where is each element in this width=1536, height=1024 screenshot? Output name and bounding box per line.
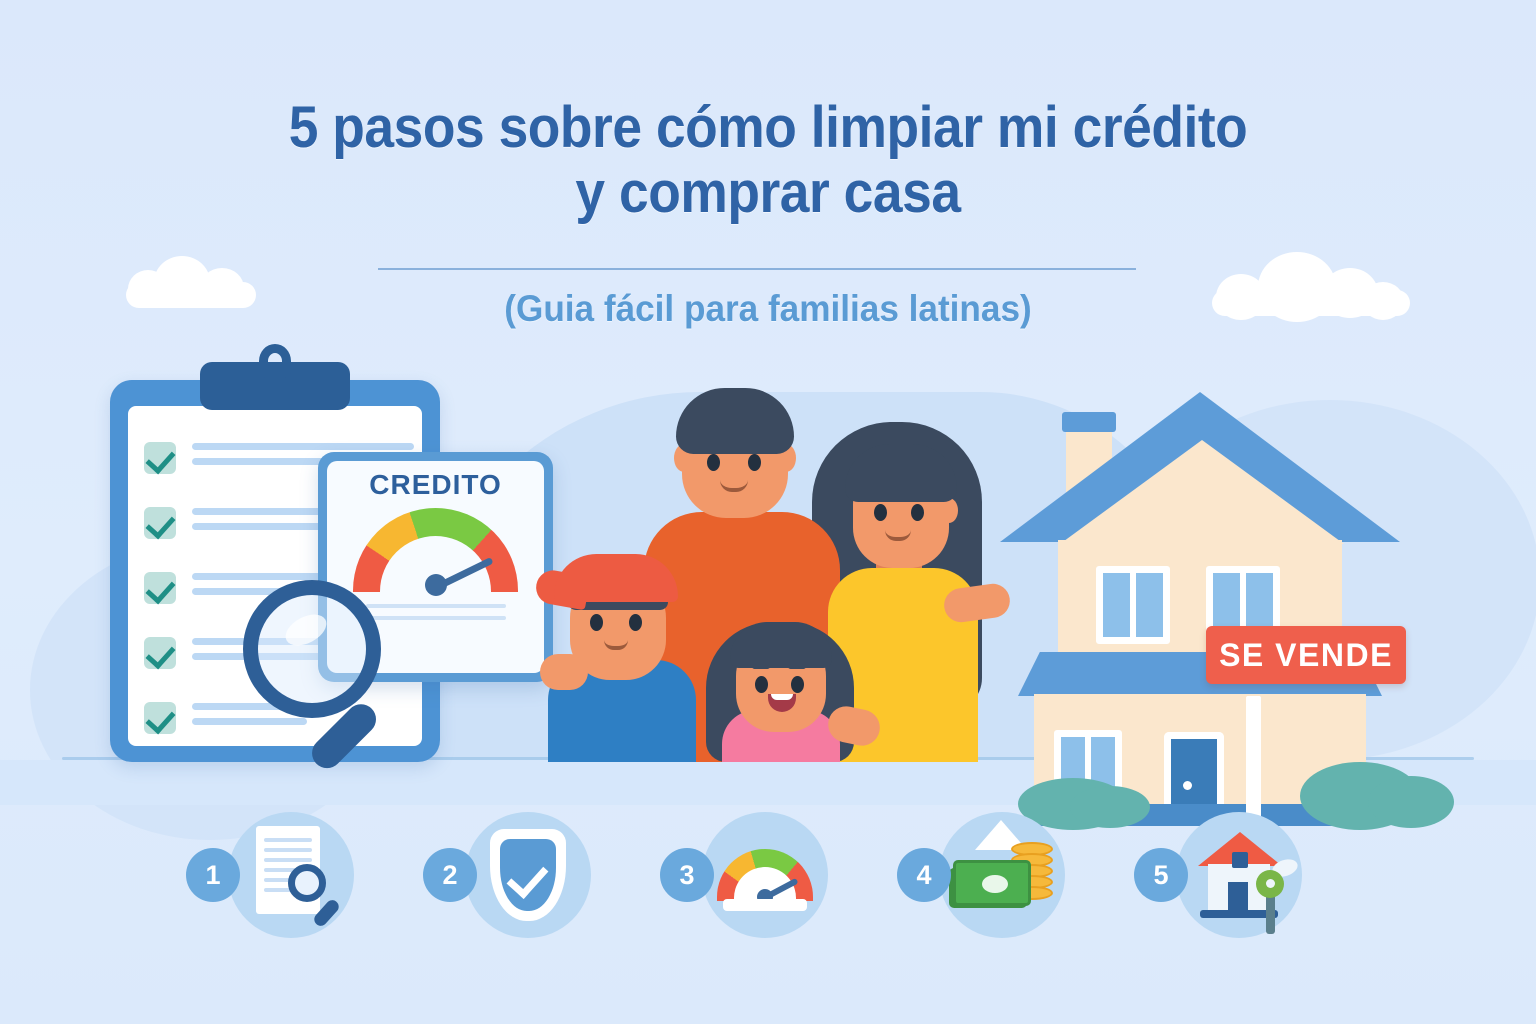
step-item-2[interactable]: 2 (423, 812, 641, 938)
title-divider (378, 268, 1136, 270)
for-sale-sign: SE VENDE (1206, 626, 1406, 684)
step-item-1[interactable]: 1 (186, 812, 404, 938)
step-icon-4 (939, 812, 1065, 938)
page-title: 5 pasos sobre cómo limpiar mi crédito y … (61, 96, 1474, 226)
step-badge-5: 5 (1134, 848, 1188, 902)
step-icon-2 (465, 812, 591, 938)
check-icon (144, 507, 176, 539)
boy-cap (554, 554, 678, 602)
step-icon-5 (1176, 812, 1302, 938)
check-icon (144, 702, 176, 734)
house-key-icon (1176, 812, 1302, 938)
step-item-4[interactable]: 4 (897, 812, 1115, 938)
father-hair (676, 388, 794, 454)
clipboard-ring (259, 344, 291, 378)
credit-gauge-icon (717, 849, 813, 901)
family-illustration (540, 372, 1010, 762)
bush-right-2 (1368, 776, 1454, 828)
check-icon (144, 572, 176, 604)
step-badge-3: 3 (660, 848, 714, 902)
house-illustration: SE VENDE (1000, 380, 1400, 762)
father-hand (540, 654, 588, 690)
key-icon (1256, 870, 1284, 898)
infographic-canvas: 5 pasos sobre cómo limpiar mi crédito y … (0, 0, 1536, 1024)
step-badge-4: 4 (897, 848, 951, 902)
step-icon-1 (228, 812, 354, 938)
credit-card-label: CREDITO (369, 469, 502, 501)
page-title-line-1: 5 pasos sobre cómo limpiar mi crédito (289, 95, 1248, 160)
magnifier-icon (243, 580, 423, 760)
step-badge-1: 1 (186, 848, 240, 902)
window-upper-left (1096, 566, 1170, 644)
shield-check-icon (490, 829, 566, 921)
page-title-line-2: y comprar casa (61, 161, 1474, 226)
step-item-5[interactable]: 5 (1134, 812, 1352, 938)
step-item-3[interactable]: 3 (660, 812, 878, 938)
check-icon (144, 637, 176, 669)
magnifier-icon (288, 864, 326, 902)
page-subtitle: (Guia fácil para familias latinas) (38, 288, 1497, 330)
step-badge-2: 2 (423, 848, 477, 902)
money-coins-icon (939, 812, 1065, 938)
steps-row: 1 2 3 (186, 800, 1352, 950)
banknote-icon (953, 860, 1031, 906)
step-icon-3 (702, 812, 828, 938)
door-knob (1183, 781, 1192, 790)
check-icon (144, 442, 176, 474)
